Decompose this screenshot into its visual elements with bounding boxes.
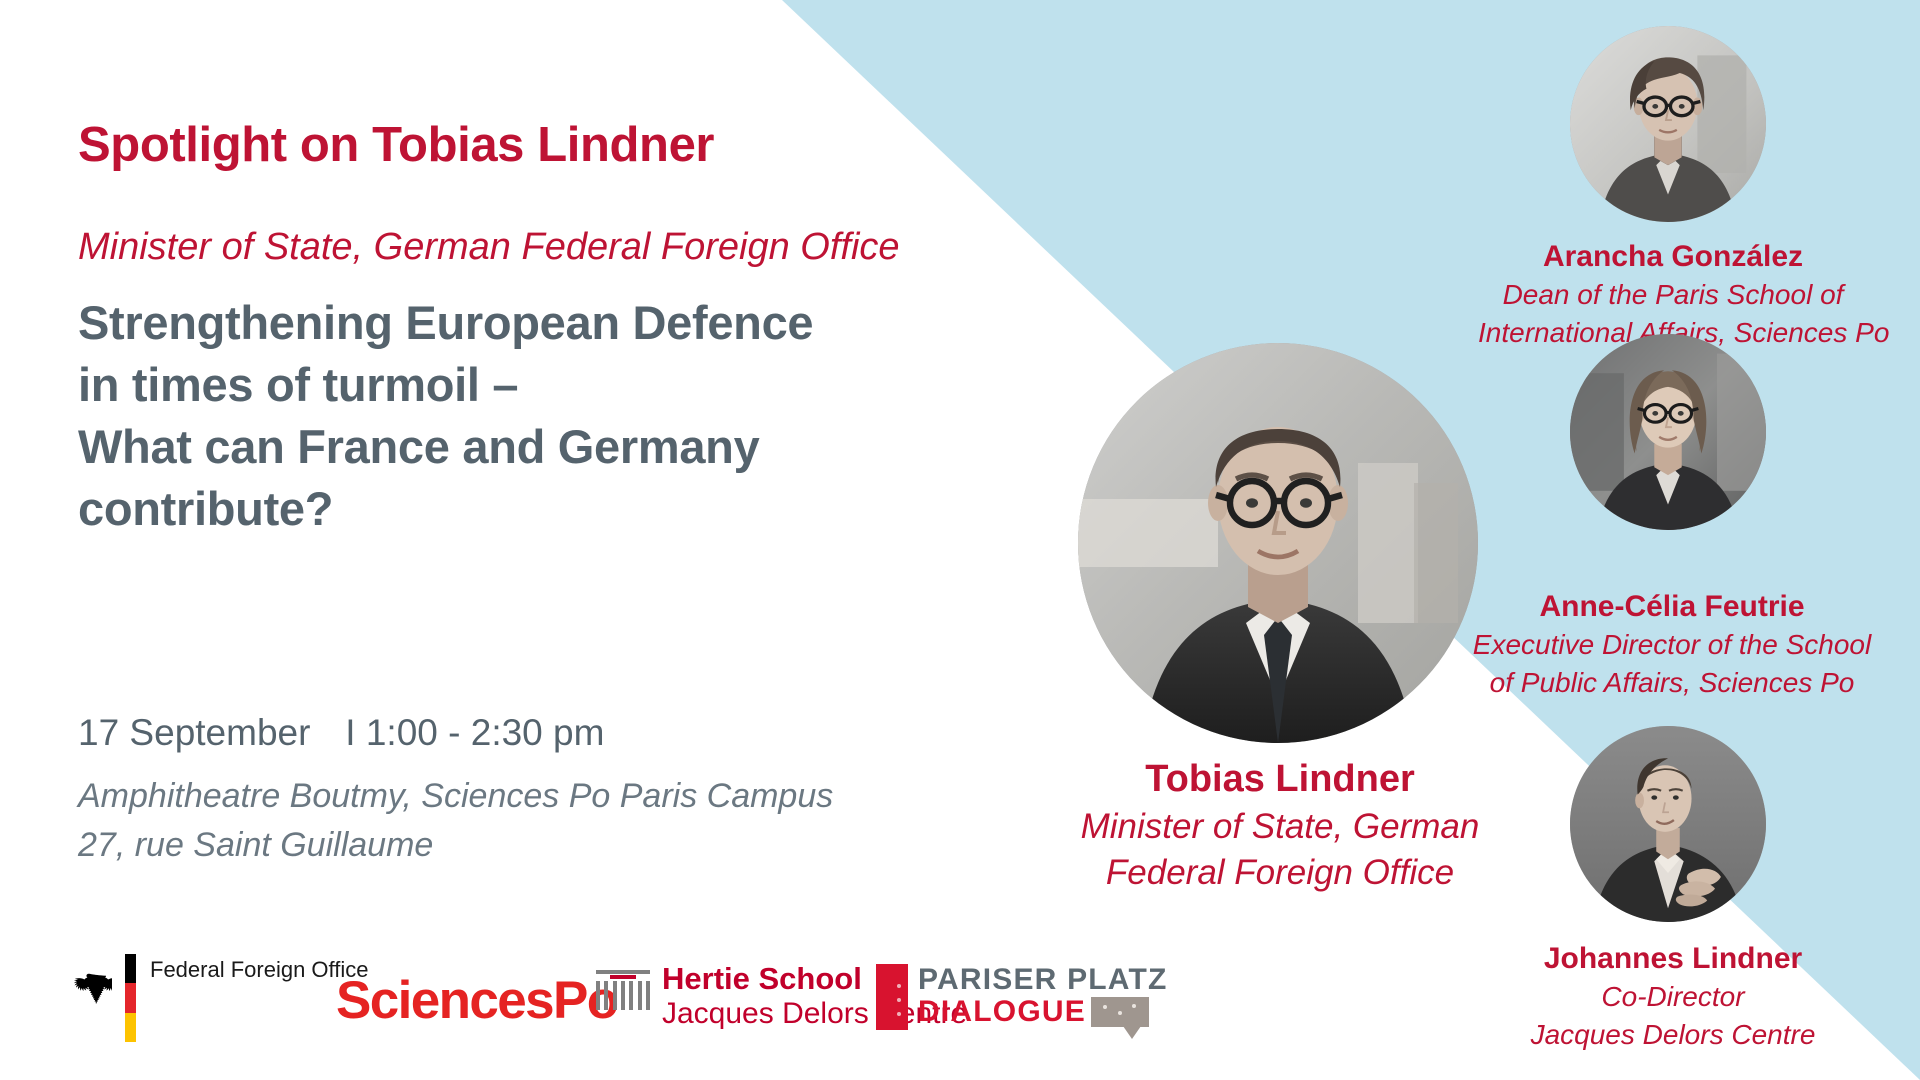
pariser-platz-mark-icon <box>876 964 908 1030</box>
caption-role: Co-Director Jacques Delors Centre <box>1478 978 1868 1052</box>
spotlight-headline: Spotlight on Tobias Lindner <box>78 120 714 171</box>
caption-name: Johannes Lindner <box>1478 940 1868 978</box>
logo-federal-foreign-office: Federal Foreign Office <box>66 954 368 1042</box>
spotlight-subtitle: Minister of State, German Federal Foreig… <box>78 228 900 268</box>
caption-johannes-lindner: Johannes Lindner Co-Director Jacques Del… <box>1478 940 1868 1053</box>
caption-role-line-1: Minister of State, German <box>1010 804 1550 850</box>
caption-role-line-2: Federal Foreign Office <box>1010 850 1550 896</box>
speech-bubble-icon <box>1091 997 1149 1027</box>
event-datetime-separator: I <box>345 712 355 753</box>
portrait-johannes-lindner <box>1570 726 1766 922</box>
caption-tobias-lindner: Tobias Lindner Minister of State, German… <box>1010 755 1550 895</box>
caption-role-line-1: Executive Director of the School <box>1462 626 1882 663</box>
event-title: Strengthening European Defence in times … <box>78 292 958 540</box>
caption-name: Arancha González <box>1478 238 1868 276</box>
german-eagle-icon <box>66 972 112 1024</box>
event-title-line-2: in times of turmoil – <box>78 354 958 416</box>
event-poster: Spotlight on Tobias Lindner Minister of … <box>0 0 1920 1080</box>
german-flag-bar-icon <box>125 954 136 1042</box>
event-venue-line-2: 27, rue Saint Guillaume <box>78 821 833 870</box>
dialogue-label: DIALOGUE <box>918 996 1086 1028</box>
caption-role-line-1: Dean of the Paris School of <box>1478 276 1868 313</box>
portrait-tobias-lindner <box>1078 343 1478 743</box>
caption-name: Tobias Lindner <box>1010 755 1550 804</box>
left-content-column: Spotlight on Tobias Lindner Minister of … <box>78 0 958 1080</box>
sciences-po-label: SciencesPo <box>336 970 618 1031</box>
temple-columns-icon <box>596 970 650 1010</box>
caption-role-line-1: Co-Director <box>1478 978 1868 1015</box>
event-datetime: 17 September I 1:00 - 2:30 pm <box>78 712 604 754</box>
caption-role: Minister of State, German Federal Foreig… <box>1010 804 1550 895</box>
portrait-anne-celia-feutrie <box>1570 334 1766 530</box>
event-date: 17 September <box>78 712 310 753</box>
caption-name: Anne-Célia Feutrie <box>1462 588 1882 626</box>
caption-role-line-2: Jacques Delors Centre <box>1478 1016 1868 1053</box>
event-title-line-1: Strengthening European Defence <box>78 292 958 354</box>
caption-role: Executive Director of the School of Publ… <box>1462 626 1882 700</box>
event-title-line-3: What can France and Germany <box>78 416 958 478</box>
event-venue: Amphitheatre Boutmy, Sciences Po Paris C… <box>78 772 833 871</box>
logo-pariser-platz-dialogue: PARISER PLATZ DIALOGUE <box>876 960 1168 1030</box>
portrait-arancha-gonzalez <box>1570 26 1766 222</box>
caption-anne-celia-feutrie: Anne-Célia Feutrie Executive Director of… <box>1462 588 1882 701</box>
logo-sciences-po: SciencesPo <box>336 970 618 1031</box>
event-time: 1:00 - 2:30 pm <box>366 712 605 753</box>
caption-role-line-2: of Public Affairs, Sciences Po <box>1462 664 1882 701</box>
pariser-platz-label: PARISER PLATZ <box>918 964 1168 996</box>
event-title-line-4: contribute? <box>78 478 958 540</box>
event-venue-line-1: Amphitheatre Boutmy, Sciences Po Paris C… <box>78 772 833 821</box>
